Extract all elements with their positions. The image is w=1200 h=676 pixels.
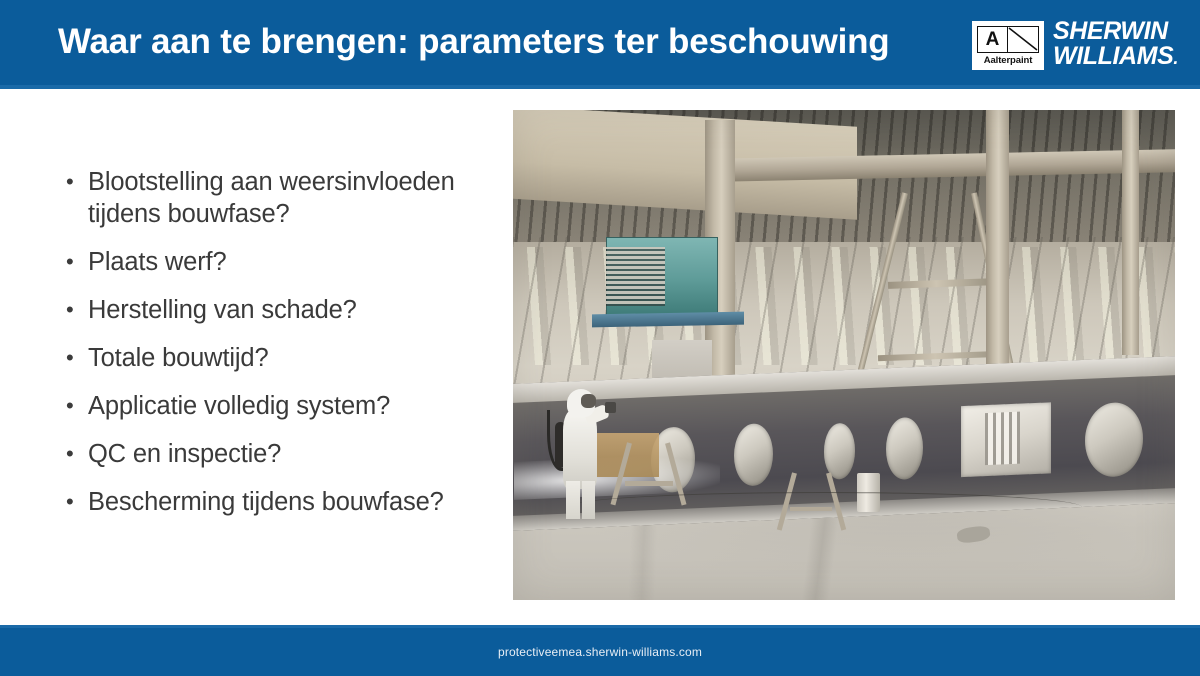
list-item: • QC en inspectie? xyxy=(58,438,488,470)
page-title: Waar aan te brengen: parameters ter besc… xyxy=(58,20,958,64)
photo-content xyxy=(513,110,1175,600)
aalterpaint-mark-icon: A xyxy=(977,26,1039,53)
sherwin-williams-wordmark: SHERWIN WILLIAMS. xyxy=(1053,19,1178,71)
slide-photo xyxy=(513,110,1175,600)
williams-label: WILLIAMS xyxy=(1053,42,1173,70)
photo-column xyxy=(1122,110,1139,355)
list-item: • Herstelling van schade? xyxy=(58,294,488,326)
list-item: • Bescherming tijdens bouwfase? xyxy=(58,486,488,518)
list-item-label: Bescherming tijdens bouwfase? xyxy=(88,486,488,518)
aalterpaint-diagonal-icon xyxy=(1008,27,1038,52)
bullet-list: • Blootstelling aan weersinvloeden tijde… xyxy=(58,166,488,534)
photo-girder-hole xyxy=(823,422,855,479)
aalterpaint-wordmark: Aalterpaint xyxy=(984,55,1033,67)
photo-worker xyxy=(554,389,606,516)
bullet-marker-icon: • xyxy=(58,246,88,278)
bullet-marker-icon: • xyxy=(58,342,88,374)
footer-accent-line xyxy=(0,625,1200,628)
photo-floor-hose xyxy=(566,492,1082,522)
header-accent-line xyxy=(0,85,1200,89)
bullet-marker-icon: • xyxy=(58,294,88,326)
list-item: • Plaats werf? xyxy=(58,246,488,278)
bullet-marker-icon: • xyxy=(58,390,88,422)
list-item: • Totale bouwtijd? xyxy=(58,342,488,374)
photo-girder-hole xyxy=(734,423,773,486)
list-item: • Applicatie volledig system? xyxy=(58,390,488,422)
brand-logo: A Aalterpaint SHERWIN WILLIAMS. xyxy=(972,16,1178,74)
list-item-label: Blootstelling aan weersinvloeden tijdens… xyxy=(88,166,488,230)
williams-period: . xyxy=(1173,48,1178,68)
aalterpaint-letter: A xyxy=(978,27,1008,52)
aalterpaint-logo: A Aalterpaint xyxy=(972,21,1044,70)
photo-girder-rect-bars xyxy=(985,411,1019,465)
bullet-marker-icon: • xyxy=(58,438,88,470)
list-item-label: Herstelling van schade? xyxy=(88,294,488,326)
list-item-label: Totale bouwtijd? xyxy=(88,342,488,374)
photo-girder-hole xyxy=(1085,401,1143,477)
list-item-label: Applicatie volledig system? xyxy=(88,390,488,422)
sherwin-text: SHERWIN xyxy=(1053,19,1178,44)
williams-text: WILLIAMS. xyxy=(1053,44,1178,71)
list-item-label: Plaats werf? xyxy=(88,246,488,278)
list-item-label: QC en inspectie? xyxy=(88,438,488,470)
bullet-marker-icon: • xyxy=(58,486,88,518)
photo-hvac-fins xyxy=(606,247,666,306)
list-item: • Blootstelling aan weersinvloeden tijde… xyxy=(58,166,488,230)
footer-url[interactable]: protectiveemea.sherwin-williams.com xyxy=(0,645,1200,659)
bullet-marker-icon: • xyxy=(58,166,88,198)
photo-column xyxy=(986,110,1009,375)
photo-girder-hole xyxy=(885,416,922,479)
